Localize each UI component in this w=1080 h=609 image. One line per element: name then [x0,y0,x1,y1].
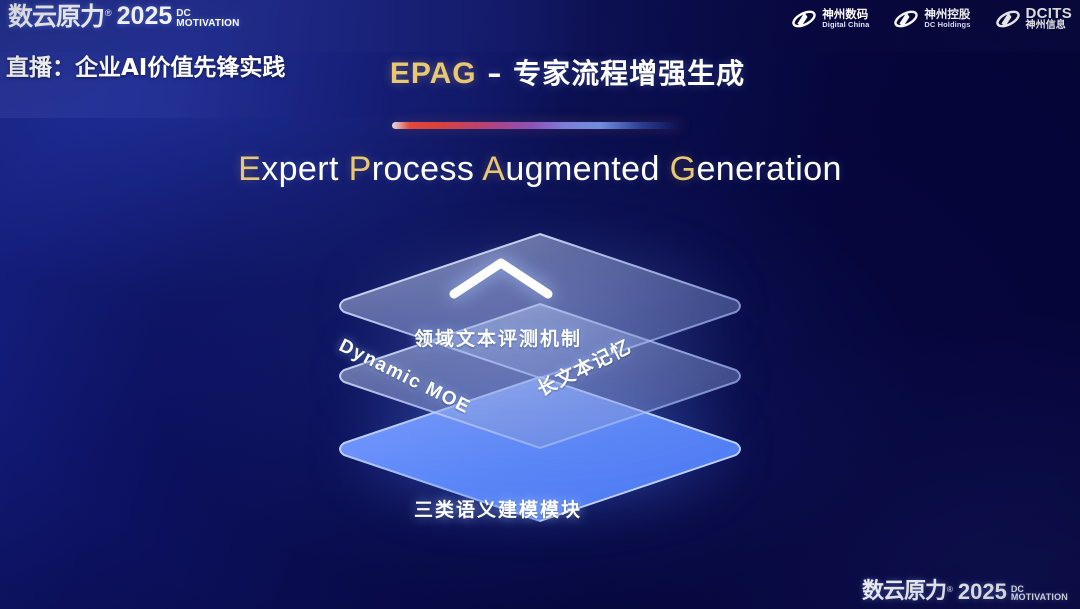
subtitle-part-6: G [670,150,697,188]
subtitle-part-3: rocess [372,150,483,188]
page-subtitle: Expert Process Augmented Generation [0,150,1080,189]
diagram-layer-top[interactable] [330,228,750,384]
brand-logo: 数云原力 ® 2025 DC MOTIVATION [8,4,240,29]
partner-text: DCITS 神州信息 [1026,6,1073,31]
swoosh-icon [995,8,1021,30]
brand-logo-cn: 数云原力 [8,4,104,29]
subtitle-part-0: E [238,150,261,188]
subtitle-part-1: xpert [261,150,348,188]
partner-name-en: DC Holdings [924,21,970,29]
subtitle-part-4: A [482,150,505,188]
page-title-chinese: – 专家流程增强生成 [477,57,746,90]
partner-name-cn: 神州数码 [822,9,869,21]
chevron-up-icon [448,256,554,300]
partner-logo-dcits: DCITS 神州信息 [995,6,1073,31]
partner-name-cn: DCITS [1026,6,1073,21]
brand-logo-registered-mark: ® [105,9,112,18]
footer-brand-logo-registered-mark: ® [947,586,953,594]
partner-name-cn: 神州控股 [924,9,970,21]
partner-logos: 神州数码 Digital China 神州控股 DC Holdings [791,6,1072,31]
partner-logo-dc-holdings: 神州控股 DC Holdings [893,8,970,30]
footer-brand-logo-dc-motivation: DC MOTIVATION [1011,585,1068,602]
subtitle-part-2: P [349,150,372,188]
swoosh-icon [893,8,919,30]
slide-stage: 数云原力 ® 2025 DC MOTIVATION 直播：企业AI价值先锋实践 … [0,0,1080,609]
footer-brand-logo-year: 2025 [958,581,1007,603]
footer-brand-logo-cn: 数云原力 [862,581,946,603]
partner-logo-digital-china: 神州数码 Digital China [791,8,869,30]
partner-name-en: Digital China [822,21,869,29]
page-title-acronym: EPAG [390,57,477,90]
brand-logo-dc-line2: MOTIVATION [176,19,239,29]
layer-plate [330,228,750,384]
footer-brand-logo: 数云原力 ® 2025 DC MOTIVATION [862,581,1068,603]
subtitle-part-7: eneration [696,150,841,188]
subtitle-part-5: ugmented [505,150,669,188]
partner-name-en: 神州信息 [1026,21,1073,31]
page-title: EPAG – 专家流程增强生成 [0,52,1080,92]
brand-logo-year: 2025 [117,4,173,29]
brand-logo-dc-motivation: DC MOTIVATION [176,9,239,28]
footer-brand-logo-dc-line2: MOTIVATION [1011,593,1068,602]
layer-stack-diagram: 领域文本评测机制 Dynamic MOE 长文本记忆 三类语义建模模块 [288,228,792,568]
swoosh-icon [791,8,817,30]
partner-text: 神州控股 DC Holdings [924,9,970,28]
gradient-divider [392,122,682,129]
partner-text: 神州数码 Digital China [822,9,869,28]
